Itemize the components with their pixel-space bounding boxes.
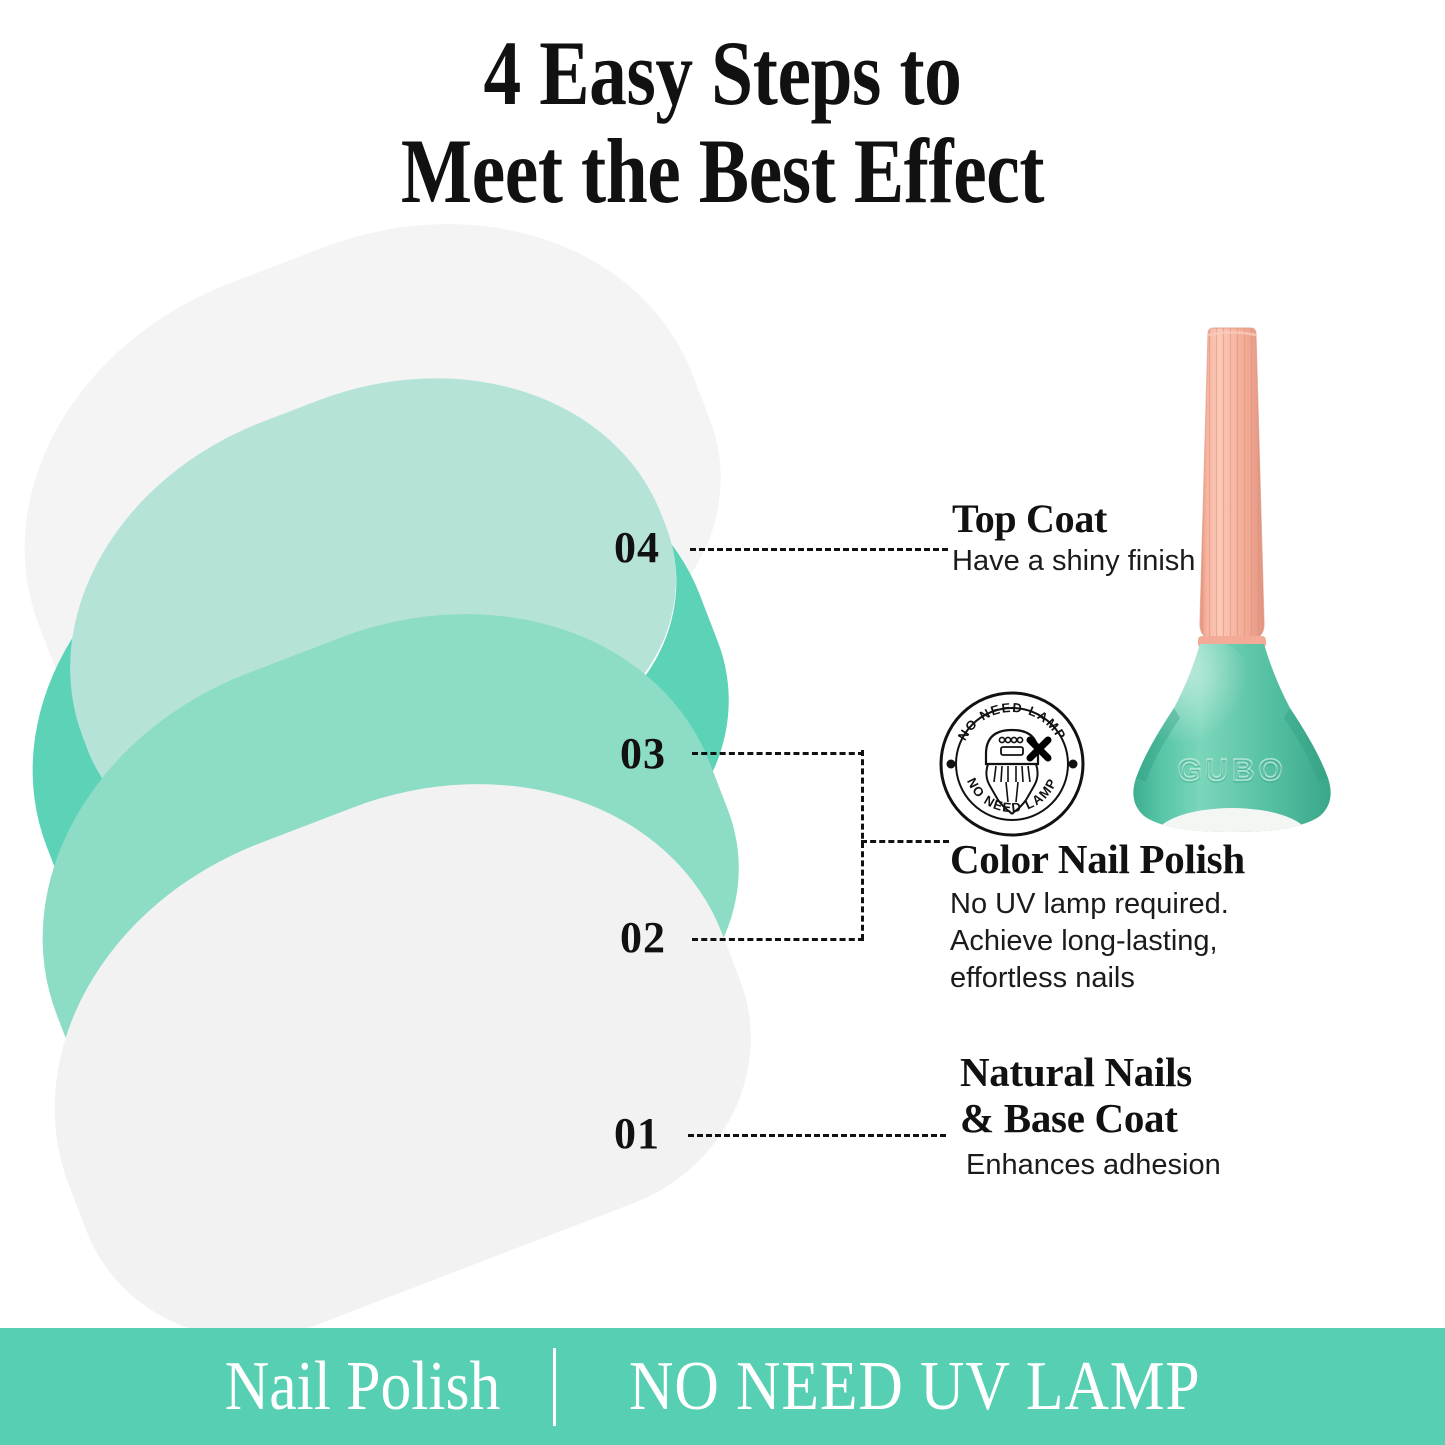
leader-line-04 bbox=[690, 548, 948, 551]
step-heading-base-coat: & Base Coat bbox=[960, 1096, 1380, 1142]
step-text-block-01: Natural Nails & Base Coat Enhances adhes… bbox=[960, 1050, 1380, 1183]
step-number-01: 01 bbox=[614, 1108, 660, 1159]
leader-line-03 bbox=[692, 752, 864, 755]
leader-bracket-vertical bbox=[861, 750, 864, 940]
banner-right-text: NO NEED UV LAMP bbox=[629, 1352, 1201, 1422]
step-text-block-03: Color Nail Polish No UV lamp required. A… bbox=[950, 838, 1350, 996]
title-line-2: Meet the Best Effect bbox=[130, 122, 1315, 220]
step-description-line-2: Achieve long-lasting, bbox=[950, 923, 1350, 960]
leader-bracket-stem bbox=[861, 840, 949, 843]
nail-polish-bottle: GUBO GUBO bbox=[1122, 326, 1418, 838]
nail-layer-stack bbox=[0, 210, 860, 1290]
bottle-cap bbox=[1192, 326, 1276, 646]
leader-line-01 bbox=[688, 1134, 946, 1137]
bottle-brand-emboss-shadow: GUBO bbox=[1178, 754, 1287, 789]
bottom-banner: Nail Polish NO NEED UV LAMP bbox=[0, 1328, 1445, 1445]
title-line-1: 4 Easy Steps to bbox=[130, 24, 1315, 122]
page-title: 4 Easy Steps to Meet the Best Effect bbox=[0, 24, 1445, 221]
banner-divider bbox=[553, 1348, 556, 1426]
step-description-line-1: No UV lamp required. bbox=[950, 886, 1350, 923]
step-description-line-3: effortless nails bbox=[950, 960, 1350, 997]
no-need-lamp-icon: NO NEED LAMP NO NEED LAMP bbox=[938, 690, 1086, 838]
step-number-02: 02 bbox=[620, 912, 666, 963]
bottle-body: GUBO GUBO bbox=[1133, 638, 1330, 838]
step-number-03: 03 bbox=[620, 728, 666, 779]
step-heading-natural-nails: Natural Nails bbox=[960, 1050, 1380, 1096]
no-need-lamp-badge: NO NEED LAMP NO NEED LAMP bbox=[938, 690, 1086, 838]
step-number-04: 04 bbox=[614, 522, 660, 573]
step-description-base-coat: Enhances adhesion bbox=[966, 1148, 1380, 1183]
bottle-illustration: GUBO GUBO bbox=[1122, 326, 1418, 838]
step-heading-color-nail-polish: Color Nail Polish bbox=[950, 838, 1350, 881]
leader-line-02 bbox=[692, 938, 864, 941]
infographic-page: 4 Easy Steps to Meet the Best Effect 04 … bbox=[0, 0, 1445, 1445]
banner-left-text: Nail Polish bbox=[224, 1352, 500, 1422]
